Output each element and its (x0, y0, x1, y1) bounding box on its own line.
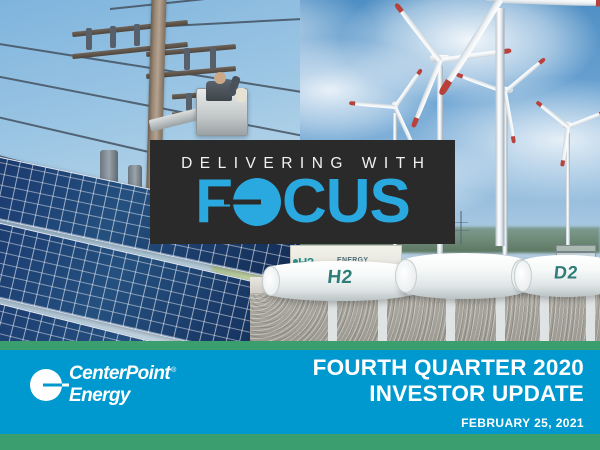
pole-insulator (210, 47, 216, 69)
pole-insulator (186, 93, 192, 111)
pole-insulator (110, 26, 116, 48)
centerpoint-circle-mark-icon (30, 369, 62, 401)
tank-support-leg (586, 289, 595, 345)
title-block: FOURTH QUARTER 2020 INVESTOR UPDATE FEBR… (313, 355, 584, 430)
tank-end-cap (395, 259, 417, 294)
title-line-1: FOURTH QUARTER 2020 (313, 355, 584, 381)
logo-text-centerpoint: CenterPoint (69, 363, 170, 384)
hydrogen-tank: D2 (518, 255, 600, 297)
hero-photo-collage: H2 ENERGY STORAGE H2 (0, 0, 600, 345)
tank-support-leg (540, 289, 549, 345)
lineman-worker-head (214, 72, 226, 84)
pole-insulator (86, 28, 92, 50)
centerpoint-circle-mark-icon (233, 178, 281, 226)
pole-insulator (184, 48, 190, 70)
turbine-tower (496, 8, 505, 246)
green-accent-bar-top (0, 341, 600, 350)
tank-label: D2 (553, 262, 579, 283)
logo-wordmark: CenterPoint® Energy (69, 364, 176, 405)
title-line-2: INVESTOR UPDATE (313, 381, 584, 407)
presentation-slide: H2 ENERGY STORAGE H2 (0, 0, 600, 450)
turbine-blade (438, 0, 503, 96)
tank-end-cap (514, 260, 532, 292)
focus-letters-cus: CUS (282, 177, 410, 228)
delivering-with-focus-logo: DELIVERING WITH F CUS (150, 140, 455, 244)
lineman-glove (236, 88, 246, 102)
tank-label: H2 (326, 267, 354, 289)
centerpoint-energy-logo: CenterPoint® Energy (30, 364, 176, 405)
focus-wordmark: F CUS (195, 177, 410, 228)
pole-insulator (134, 24, 140, 46)
tank-end-cap (262, 266, 280, 296)
logo-line-centerpoint: CenterPoint® (69, 364, 176, 383)
hydrogen-tank (400, 253, 528, 299)
circle-notch (224, 200, 261, 205)
logo-notch (43, 383, 62, 386)
hydrogen-tank: H2 (266, 261, 414, 301)
registered-mark: ® (171, 367, 176, 374)
hydrogen-storage-facility: H2 ENERGY STORAGE H2 (250, 233, 600, 345)
logo-line-energy: Energy (69, 386, 176, 405)
green-accent-bar-bottom (0, 434, 600, 450)
presentation-date: FEBRUARY 25, 2021 (313, 416, 584, 430)
